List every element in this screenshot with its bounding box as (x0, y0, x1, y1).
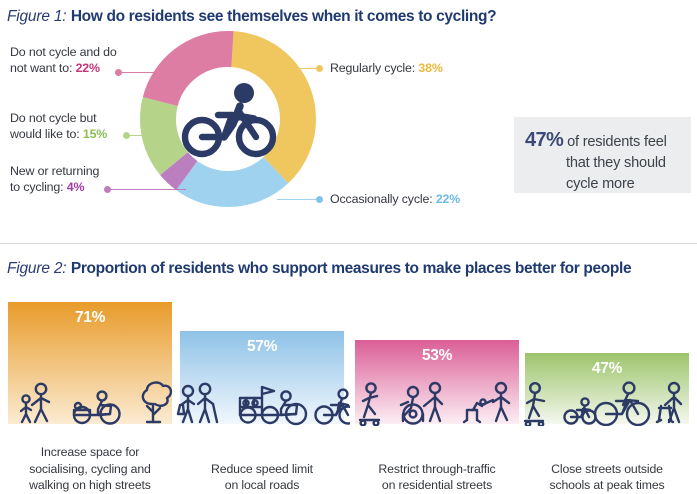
donut-label-new: New or returning to cycling: 4% (10, 163, 132, 196)
infographic-canvas: Figure 1: How do residents see themselve… (0, 0, 697, 494)
bar-column-speed-limit: 57% (180, 286, 344, 494)
figure2-heading: Proportion of residents who support meas… (71, 260, 631, 277)
callout-box-cycle-more: 47% of residents feel that they should c… (514, 117, 691, 193)
callout-line2: that they should (566, 153, 666, 174)
bar-pictograms (525, 374, 689, 426)
callout-value: 47% (525, 129, 563, 151)
leader-stem (115, 72, 177, 73)
callout-line1: of residents feel (563, 134, 666, 150)
section-divider (0, 243, 697, 244)
donut-svg (140, 31, 316, 207)
donut-label-occasional: Occasionally cycle: 22% (330, 191, 460, 207)
donut-value-occasional: 22% (436, 192, 460, 206)
figure1-label: Figure 1: (7, 8, 66, 25)
bar-caption: Reduce speed limit on local roads (172, 461, 352, 494)
bar-body: 47% (525, 353, 689, 424)
bar-pictograms (8, 374, 172, 426)
leader-dot (316, 65, 323, 72)
bar-value: 57% (180, 338, 344, 356)
bar-pictograms (355, 374, 519, 426)
donut-value-new: 4% (67, 180, 85, 194)
bar-column-school-streets: 47% (525, 286, 689, 494)
cyclist-icon-rider (234, 83, 254, 103)
bar-value: 71% (8, 309, 172, 327)
two-people-walking-icon (174, 374, 350, 426)
figure1-title: Figure 1: How do residents see themselve… (7, 8, 496, 26)
callout-text: 47% of residents feel that they should c… (525, 130, 683, 195)
donut-label-regular: Regularly cycle: 38% (330, 60, 443, 76)
cycling-donut-chart (140, 31, 316, 207)
callout-line3: cycle more (566, 174, 635, 195)
bar-body: 71% (8, 302, 172, 424)
figure2-title: Figure 2: Proportion of residents who su… (7, 260, 631, 278)
donut-label-wouldlike: Do not cycle but would like to: 15% (10, 110, 142, 143)
bar-column-high-streets: 71% (8, 286, 172, 494)
leader-stem (104, 189, 186, 190)
donut-value-regular: 38% (418, 61, 442, 75)
figure1-heading: How do residents see themselves when it … (71, 8, 496, 25)
bar-column-through-traffic: 53% (355, 286, 519, 494)
bar-caption: Close streets outside schools at peak ti… (517, 461, 697, 494)
bar-body: 53% (355, 340, 519, 424)
bar-caption: Restrict through-traffic on residential … (347, 461, 527, 494)
donut-value-wouldlike: 15% (83, 127, 107, 141)
bar-value: 53% (355, 347, 519, 365)
bar-body: 57% (180, 331, 344, 424)
bar-caption: Increase space for socialising, cycling … (0, 444, 180, 494)
adult-and-child-walking-icon (14, 374, 178, 426)
skateboarder-icon (351, 374, 527, 426)
scooter-rider-icon (511, 374, 691, 426)
figure2-label: Figure 2: (7, 260, 66, 277)
leader-dot (316, 196, 323, 203)
donut-value-never: 22% (76, 61, 100, 75)
support-measures-bars: 71% (0, 286, 697, 494)
bar-pictograms (180, 374, 344, 426)
